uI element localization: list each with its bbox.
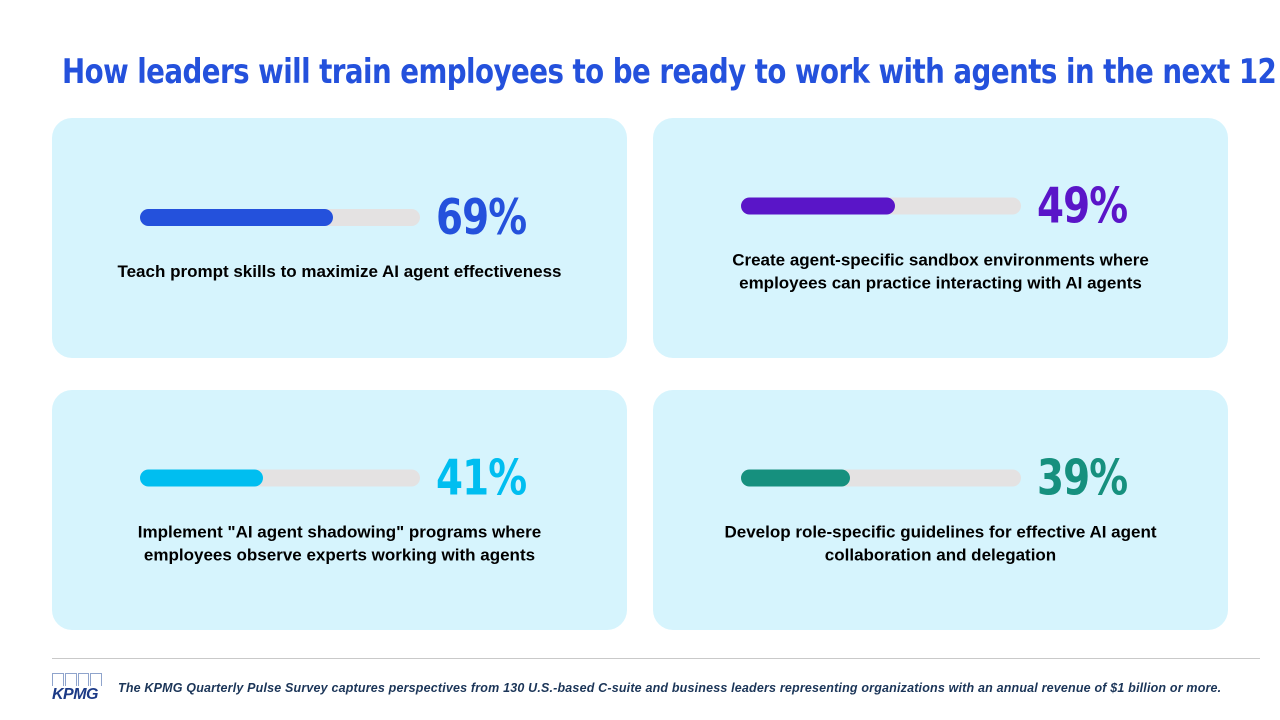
stat-caption: Teach prompt skills to maximize AI agent… <box>74 260 605 283</box>
stat-caption: Implement "AI agent shadowing" programs … <box>74 521 605 567</box>
kpmg-logo: KPMG <box>52 673 104 703</box>
stat-card-content: 41% Implement "AI agent shadowing" progr… <box>52 454 627 567</box>
progress-track <box>140 470 420 487</box>
stat-card: 69% Teach prompt skills to maximize AI a… <box>52 118 627 358</box>
progress-fill <box>741 198 895 215</box>
stat-card: 49% Create agent-specific sandbox enviro… <box>653 118 1228 358</box>
progress-fill <box>741 470 850 487</box>
stat-card-grid: 69% Teach prompt skills to maximize AI a… <box>52 118 1228 630</box>
progress-fill <box>140 209 333 226</box>
stat-value: 69% <box>436 193 526 242</box>
stat-card: 41% Implement "AI agent shadowing" progr… <box>52 390 627 630</box>
kpmg-wordmark: KPMG <box>52 687 104 703</box>
stat-card-content: 69% Teach prompt skills to maximize AI a… <box>52 193 627 283</box>
stat-caption: Develop role-specific guidelines for eff… <box>675 521 1206 567</box>
progress-track <box>741 198 1021 215</box>
page-title: How leaders will train employees to be r… <box>62 50 1112 94</box>
progress-meter: 49% <box>675 182 1206 231</box>
progress-meter: 41% <box>74 454 605 503</box>
progress-fill <box>140 470 263 487</box>
stat-card: 39% Develop role-specific guidelines for… <box>653 390 1228 630</box>
stat-value: 41% <box>436 454 526 503</box>
kpmg-bars-icon <box>52 673 102 686</box>
footer-note: The KPMG Quarterly Pulse Survey captures… <box>118 680 1221 696</box>
stat-value: 39% <box>1037 454 1127 503</box>
stat-value: 49% <box>1037 182 1127 231</box>
stat-card-content: 49% Create agent-specific sandbox enviro… <box>653 182 1228 295</box>
infographic-page: How leaders will train employees to be r… <box>0 0 1280 720</box>
progress-meter: 39% <box>675 454 1206 503</box>
footer-divider <box>52 658 1260 659</box>
footer: KPMG The KPMG Quarterly Pulse Survey cap… <box>52 668 1268 708</box>
progress-track <box>140 209 420 226</box>
progress-meter: 69% <box>74 193 605 242</box>
progress-track <box>741 470 1021 487</box>
stat-caption: Create agent-specific sandbox environmen… <box>675 249 1206 295</box>
stat-card-content: 39% Develop role-specific guidelines for… <box>653 454 1228 567</box>
